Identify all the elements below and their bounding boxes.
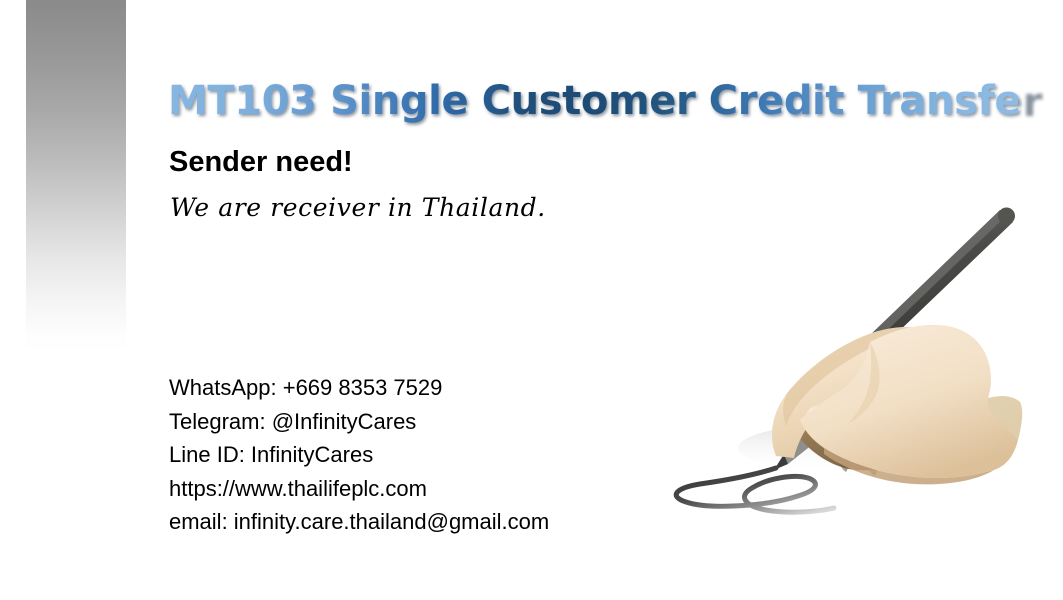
contact-line: Line ID: InfinityCares (169, 438, 549, 472)
headline-text: Sender need! (169, 144, 353, 180)
left-gradient-bar (26, 0, 126, 352)
page-title-text: MT103 Single Customer Credit Transfer (168, 76, 1018, 126)
subline-text: We are receiver in Thailand. (170, 191, 546, 225)
contact-list: WhatsApp: +669 8353 7529 Telegram: @Infi… (169, 371, 549, 539)
contact-whatsapp: WhatsApp: +669 8353 7529 (169, 371, 549, 405)
contact-email[interactable]: email: infinity.care.thailand@gmail.com (169, 505, 549, 539)
signature-squiggle (676, 468, 834, 512)
contact-website[interactable]: https://www.thailifeplc.com (169, 472, 549, 506)
slide-canvas: MT103 Single Customer Credit Transfer MT… (0, 0, 1063, 600)
hand-writing-with-pen-icon (648, 196, 1048, 521)
contact-telegram: Telegram: @InfinityCares (169, 405, 549, 439)
page-title: MT103 Single Customer Credit Transfer MT… (168, 76, 1018, 128)
